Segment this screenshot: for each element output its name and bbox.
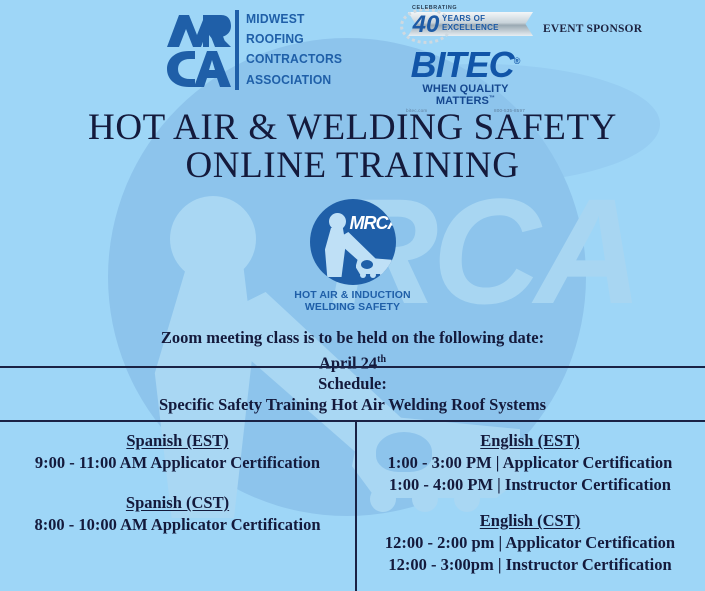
welding-safety-logo: MRCA HOT AIR & INDUCTION WELDING SAFETY (293, 199, 413, 313)
schedule-group-title: English (EST) (355, 430, 705, 452)
schedule-group-spanish-est: Spanish (EST) 9:00 - 11:00 AM Applicator… (0, 430, 355, 474)
zoom-notice-line: Zoom meeting class is to be held on the … (0, 327, 705, 349)
schedule-row: 1:00 - 4:00 PM | Instructor Certificatio… (355, 474, 705, 496)
welding-safety-logo-icon: MRCA (310, 199, 396, 285)
mrca-word-line-4: ASSOCIATION (246, 70, 342, 90)
bitec-tagline-text: WHEN QUALITY MATTERS (422, 83, 508, 107)
schedule-group-english-est: English (EST) 1:00 - 3:00 PM | Applicato… (355, 430, 705, 496)
welding-safety-logo-caption: HOT AIR & INDUCTION WELDING SAFETY (293, 289, 413, 313)
worker-head-icon (329, 213, 346, 230)
schedule-column-english: English (EST) 1:00 - 3:00 PM | Applicato… (355, 422, 705, 591)
mrca-mini-monogram: MRCA (350, 214, 396, 232)
mrca-logo-wordmark: MIDWEST ROOFING CONTRACTORS ASSOCIATION (246, 9, 342, 91)
schedule-row: 1:00 - 3:00 PM | Applicator Certificatio… (355, 452, 705, 474)
schedule-group-spanish-cst: Spanish (CST) 8:00 - 10:00 AM Applicator… (0, 492, 355, 536)
bitec-anniversary-badge: CELEBRATING 40 YEARS OF EXCELLENCE (398, 4, 533, 46)
trademark-mark-icon: ™ (489, 95, 495, 101)
bitec-wordmark: BITEC® (398, 44, 533, 82)
schedule-heading: Schedule: (0, 373, 705, 394)
flyer-poster: RCA MIDWEST (0, 0, 705, 591)
welding-caption-line-2: WELDING SAFETY (293, 301, 413, 313)
mrca-logo-divider (235, 10, 239, 90)
schedule-row: 8:00 - 10:00 AM Applicator Certification (0, 514, 355, 536)
schedule-row: 12:00 - 2:00 pm | Applicator Certificati… (355, 532, 705, 554)
mrca-monogram-icon (163, 9, 233, 89)
schedule-group-english-cst: English (CST) 12:00 - 2:00 pm | Applicat… (355, 510, 705, 576)
registered-mark-icon: ® (514, 56, 521, 66)
header-logos: MIDWEST ROOFING CONTRACTORS ASSOCIATION … (0, 0, 705, 103)
schedule-band: Schedule: Specific Safety Training Hot A… (0, 368, 705, 420)
bitec-website: bitec.com (406, 108, 427, 113)
welding-caption-line-1: HOT AIR & INDUCTION (293, 289, 413, 301)
bitec-fine-print: bitec.com 800-535-8597 (398, 107, 533, 113)
event-sponsor-label: EVENT SPONSOR (543, 23, 642, 35)
page-title: HOT AIR & WELDING SAFETY ONLINE TRAINING (0, 109, 705, 185)
welder-machine-hole-icon (361, 260, 373, 269)
schedule-group-title: Spanish (EST) (0, 430, 355, 452)
schedule-columns: Spanish (EST) 9:00 - 11:00 AM Applicator… (0, 422, 705, 591)
bitec-ribbon-line-1: YEARS OF (442, 14, 534, 23)
divider-top (0, 366, 705, 368)
mrca-logo: MIDWEST ROOFING CONTRACTORS ASSOCIATION (163, 9, 351, 91)
page-title-line-1: HOT AIR & WELDING SAFETY (0, 109, 705, 147)
mrca-word-line-2: ROOFING (246, 29, 342, 49)
bitec-logo: CELEBRATING 40 YEARS OF EXCELLENCE BITEC… (398, 4, 533, 113)
bitec-wordmark-text: BITEC (411, 44, 514, 85)
schedule-column-spanish: Spanish (EST) 9:00 - 11:00 AM Applicator… (0, 422, 355, 591)
bitec-ribbon-line-2: EXCELLENCE (442, 23, 534, 32)
welder-wheel-icon (370, 272, 376, 278)
bitec-ribbon-text: YEARS OF EXCELLENCE (442, 14, 534, 32)
zoom-notice-date-suffix: th (377, 354, 386, 365)
bitec-years-number: 40 (408, 11, 444, 39)
welder-wheel-icon (360, 272, 366, 278)
mrca-word-line-1: MIDWEST (246, 9, 342, 29)
schedule-row: 12:00 - 3:00pm | Instructor Certificatio… (355, 554, 705, 576)
welder-wheel-icon (380, 272, 386, 278)
page-title-line-2: ONLINE TRAINING (0, 147, 705, 185)
schedule-group-title: English (CST) (355, 510, 705, 532)
schedule-row: 9:00 - 11:00 AM Applicator Certification (0, 452, 355, 474)
bitec-tagline: WHEN QUALITY MATTERS™ (398, 83, 533, 107)
divider-vertical (355, 421, 357, 591)
schedule-group-title: Spanish (CST) (0, 492, 355, 514)
mrca-word-line-3: CONTRACTORS (246, 49, 342, 69)
divider-middle (0, 420, 705, 422)
bitec-phone: 800-535-8597 (494, 108, 525, 113)
schedule-subheading: Specific Safety Training Hot Air Welding… (0, 394, 705, 416)
